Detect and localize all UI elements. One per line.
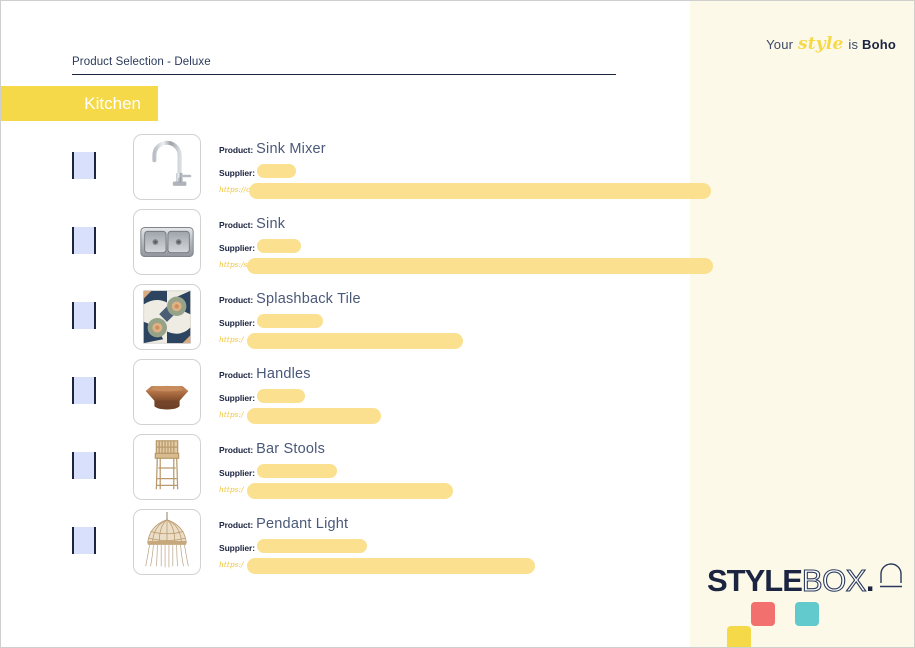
product-name-line: Product:Splashback Tile [219, 291, 691, 307]
supplier-line: Supplier: [219, 314, 691, 326]
supplier-label: Supplier: [219, 393, 255, 403]
stylebox-logo: STYLE BOX . [707, 561, 907, 648]
url-redaction [249, 183, 711, 199]
product-list: Product:Sink Mixer Supplier: https://can… [1, 134, 691, 584]
double-bowl-sink-icon [133, 209, 201, 275]
product-row: Product:Bar Stools Supplier: https:/ [1, 434, 691, 509]
logo-color-swatches [707, 602, 907, 648]
product-label: Product: [219, 220, 253, 230]
product-name-line: Product:Bar Stools [219, 441, 691, 457]
product-row: Product:Handles Supplier: https:/ [1, 359, 691, 434]
product-details: Product:Handles Supplier: https:/ [219, 366, 691, 420]
supplier-label: Supplier: [219, 168, 255, 178]
tagline-boho: Boho [862, 37, 896, 52]
logo-text-box: BOX [802, 565, 866, 596]
supplier-redaction [257, 464, 337, 478]
product-details: Product:Pendant Light Supplier: https:/ [219, 516, 691, 570]
product-label: Product: [219, 295, 253, 305]
url-redaction [247, 483, 453, 499]
product-name-line: Product:Handles [219, 366, 691, 382]
url-redaction [247, 408, 381, 424]
tagline-style: style [797, 34, 845, 54]
product-name: Sink [253, 216, 285, 232]
product-url-line[interactable]: https:/sink-m [219, 260, 711, 270]
product-row: Product:Splashback Tile Supplier: https:… [1, 284, 691, 359]
tagline-your: Your [766, 37, 793, 52]
product-row: Product:Sink Mixer Supplier: https://can… [1, 134, 691, 209]
supplier-label: Supplier: [219, 318, 255, 328]
product-row: Product:Sink Supplier: https:/sink-m [1, 209, 691, 284]
url-redaction [247, 258, 713, 274]
product-name-line: Product:Sink [219, 216, 691, 232]
product-label: Product: [219, 370, 253, 380]
supplier-redaction [257, 389, 305, 403]
supplier-line: Supplier: [219, 164, 691, 176]
product-url-text: https:/ [219, 335, 244, 344]
product-name-line: Product:Pendant Light [219, 516, 691, 532]
supplier-redaction [257, 539, 367, 553]
document-title-container: Product Selection - Deluxe [72, 52, 616, 75]
supplier-label: Supplier: [219, 468, 255, 478]
supplier-label: Supplier: [219, 543, 255, 553]
product-row: Product:Pendant Light Supplier: https:/ [1, 509, 691, 584]
logo-text-style: STYLE [707, 565, 802, 596]
document-page: Your style is Boho Product Selection - D… [0, 0, 915, 648]
product-checkbox[interactable] [72, 527, 96, 554]
right-cream-panel [690, 1, 914, 647]
supplier-redaction [257, 164, 296, 178]
product-checkbox[interactable] [72, 227, 96, 254]
product-details: Product:Sink Supplier: https:/sink-m [219, 216, 691, 270]
logo-swatch-coral [751, 602, 775, 626]
url-redaction [247, 558, 535, 574]
supplier-line: Supplier: [219, 539, 691, 551]
product-url-text: https:/ [219, 560, 244, 569]
product-details: Product:Splashback Tile Supplier: https:… [219, 291, 691, 345]
url-redaction [247, 333, 463, 349]
supplier-label: Supplier: [219, 243, 255, 253]
product-checkbox[interactable] [72, 452, 96, 479]
product-url-line[interactable]: https:/ [219, 335, 711, 345]
supplier-line: Supplier: [219, 389, 691, 401]
product-url-line[interactable]: https://canterbury-3000-sprout-sink-boy-… [219, 185, 711, 195]
supplier-line: Supplier: [219, 239, 691, 251]
product-name: Sink Mixer [253, 141, 326, 157]
supplier-line: Supplier: [219, 464, 691, 476]
product-url-line[interactable]: https:/ [219, 485, 711, 495]
wooden-knob-handle-icon [133, 359, 201, 425]
logo-text-dot: . [866, 565, 875, 596]
rattan-bar-stool-icon [133, 434, 201, 500]
product-checkbox[interactable] [72, 302, 96, 329]
product-url-line[interactable]: https:/ [219, 410, 711, 420]
brand-tagline: Your style is Boho [766, 34, 896, 54]
logo-swatch-teal [795, 602, 819, 626]
product-details: Product:Bar Stools Supplier: https:/ [219, 441, 691, 495]
product-url-text: https:/ [219, 410, 244, 419]
logo-swatch-yellow [727, 626, 751, 648]
page-title: Product Selection - Deluxe [72, 56, 211, 68]
supplier-redaction [257, 239, 301, 253]
product-name: Splashback Tile [253, 291, 361, 307]
product-checkbox[interactable] [72, 377, 96, 404]
product-url-text: https:/ [219, 485, 244, 494]
product-details: Product:Sink Mixer Supplier: https://can… [219, 141, 691, 195]
tagline-is: is [848, 37, 858, 52]
supplier-redaction [257, 314, 323, 328]
product-label: Product: [219, 445, 253, 455]
product-name-line: Product:Sink Mixer [219, 141, 691, 157]
logo-wordmark: STYLE BOX . [707, 561, 907, 596]
product-checkbox[interactable] [72, 152, 96, 179]
section-banner-label: Kitchen [84, 94, 141, 114]
product-name: Bar Stools [253, 441, 325, 457]
patterned-tile-icon [133, 284, 201, 350]
section-banner-kitchen: Kitchen [1, 86, 158, 121]
rattan-pendant-light-icon [133, 509, 201, 575]
product-label: Product: [219, 145, 253, 155]
product-url-line[interactable]: https:/ [219, 560, 711, 570]
product-name: Handles [253, 366, 311, 382]
product-label: Product: [219, 520, 253, 530]
arch-dome-icon [876, 561, 906, 595]
sink-mixer-tap-icon [133, 134, 201, 200]
product-name: Pendant Light [253, 516, 348, 532]
